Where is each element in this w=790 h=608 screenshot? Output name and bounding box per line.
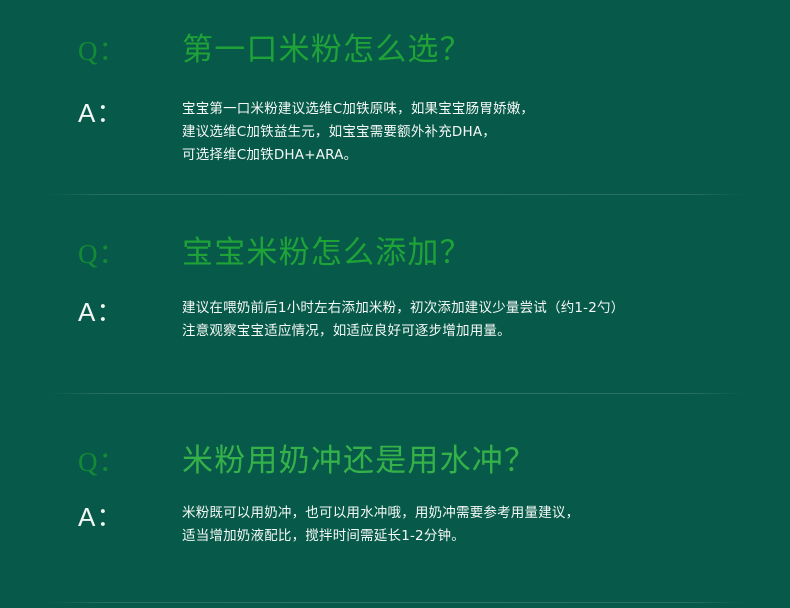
answer-text: 建议在喂奶前后1小时左右添加米粉，初次添加建议少量尝试（约1-2勺） 注意观察宝… [182, 297, 624, 343]
answer-marker: A： [78, 502, 182, 530]
faq-item: Q： 米粉用奶冲还是用水冲？ A： 米粉既可以用奶冲，也可以用水冲哦，用奶冲需要… [0, 394, 790, 608]
faq-page: Q： 第一口米粉怎么选？ A： 宝宝第一口米粉建议选维C加铁原味，如果宝宝肠胃娇… [0, 0, 790, 608]
faq-item: Q： 第一口米粉怎么选？ A： 宝宝第一口米粉建议选维C加铁原味，如果宝宝肠胃娇… [0, 0, 790, 196]
question-text: 宝宝米粉怎么添加？ [182, 236, 472, 270]
question-marker: Q： [78, 241, 182, 268]
section-divider [48, 194, 745, 195]
answer-row: A： 宝宝第一口米粉建议选维C加铁原味，如果宝宝肠胃娇嫩， 建议选维C加铁益生元… [78, 98, 534, 167]
answer-text: 米粉既可以用奶冲，也可以用水冲哦，用奶冲需要参考用量建议， 适当增加奶液配比，搅… [182, 502, 579, 548]
faq-item: Q： 宝宝米粉怎么添加？ A： 建议在喂奶前后1小时左右添加米粉，初次添加建议少… [0, 196, 790, 394]
answer-row: A： 米粉既可以用奶冲，也可以用水冲哦，用奶冲需要参考用量建议， 适当增加奶液配… [78, 502, 579, 548]
question-row: Q： 米粉用奶冲还是用水冲？ [78, 444, 536, 478]
question-row: Q： 宝宝米粉怎么添加？ [78, 236, 472, 270]
question-text: 米粉用奶冲还是用水冲？ [182, 444, 536, 478]
answer-marker: A： [78, 297, 182, 325]
question-marker: Q： [78, 449, 182, 476]
answer-text: 宝宝第一口米粉建议选维C加铁原味，如果宝宝肠胃娇嫩， 建议选维C加铁益生元，如宝… [182, 98, 534, 167]
question-row: Q： 第一口米粉怎么选？ [78, 33, 472, 67]
answer-marker: A： [78, 98, 182, 126]
question-text: 第一口米粉怎么选？ [182, 33, 472, 67]
answer-row: A： 建议在喂奶前后1小时左右添加米粉，初次添加建议少量尝试（约1-2勺） 注意… [78, 297, 624, 343]
question-marker: Q： [78, 38, 182, 65]
section-divider [48, 602, 745, 603]
